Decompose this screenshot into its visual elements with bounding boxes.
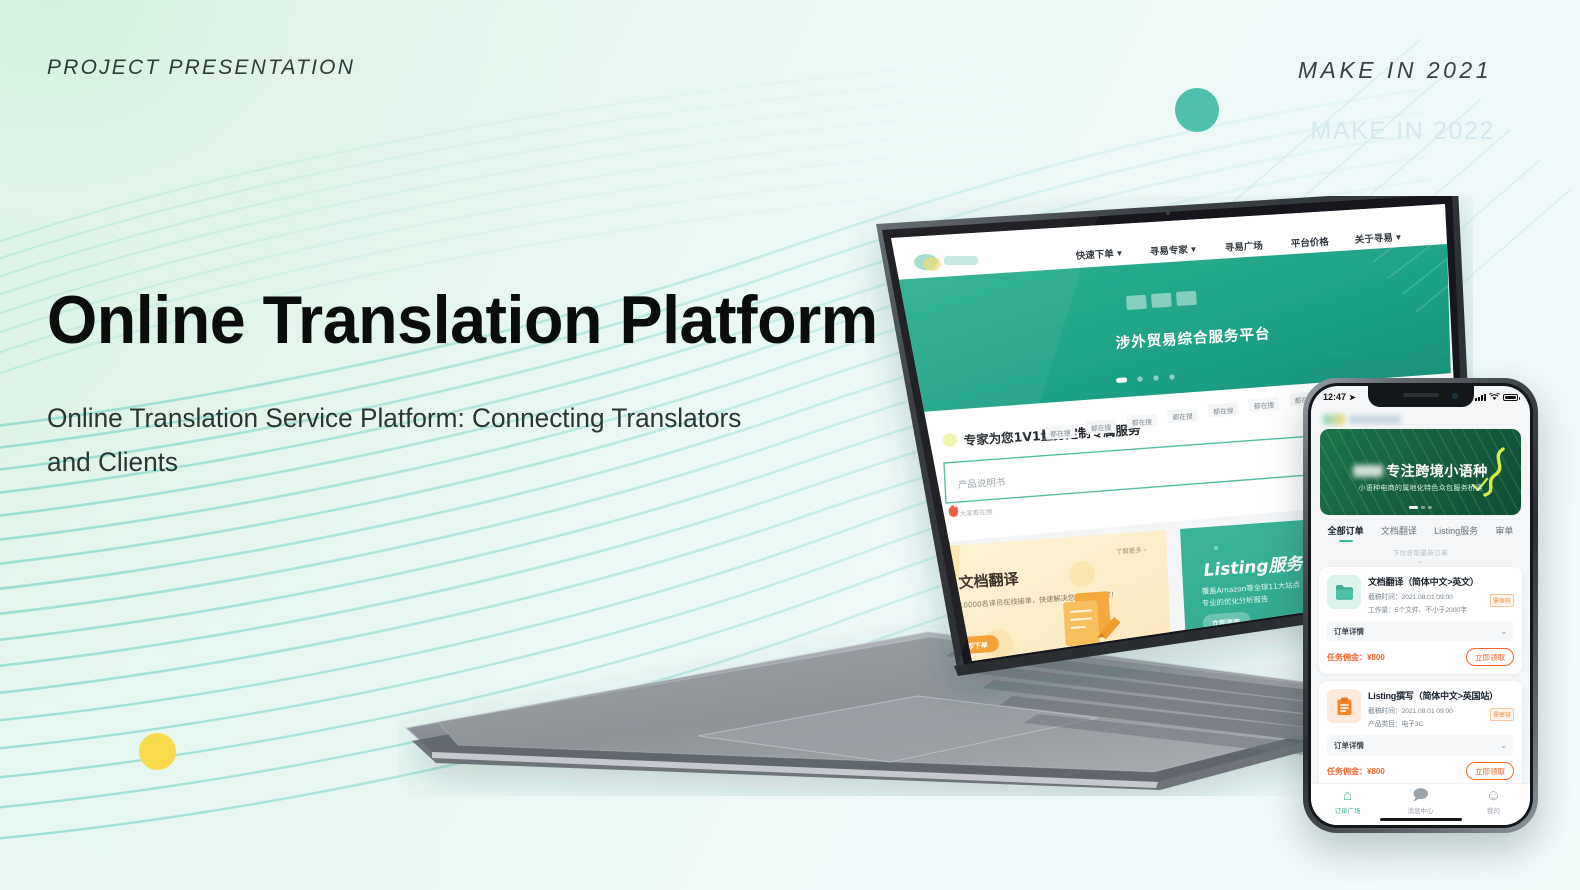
status-badge: 需审核 bbox=[1490, 708, 1514, 721]
tab-all-orders[interactable]: 全部订单 bbox=[1328, 524, 1364, 542]
tabbar-item-order-square[interactable]: ⌂ 订单广场 bbox=[1311, 788, 1384, 815]
claim-order-button[interactable]: 立即领取 bbox=[1466, 648, 1514, 666]
wifi-icon bbox=[1489, 393, 1500, 401]
home-indicator[interactable] bbox=[1380, 818, 1462, 821]
order-detail-label: 订单详情 bbox=[1334, 740, 1364, 751]
banner-dots[interactable] bbox=[1320, 506, 1521, 509]
eyebrow-label: PROJECT PRESENTATION bbox=[47, 56, 355, 80]
phone-status-bar: 12:47 ➤ bbox=[1311, 386, 1530, 408]
nav-item-3: 平台价格 bbox=[1290, 236, 1329, 250]
battery-icon bbox=[1503, 394, 1518, 401]
order-detail-label: 订单详情 bbox=[1334, 626, 1364, 637]
order-fee: 任务佣金：¥800 bbox=[1327, 652, 1385, 663]
tabbar-item-messages[interactable]: 🗩 消息中心 bbox=[1384, 788, 1457, 815]
smile-face-icon: ☺ bbox=[1457, 788, 1530, 804]
clipboard-icon bbox=[1327, 689, 1361, 723]
order-card[interactable]: Listing撰写（简体中文>英国站） 截稿时间：2021.08.01 09:0… bbox=[1319, 681, 1522, 788]
order-filter-tabs[interactable]: 全部订单 文档翻译 Listing服务 审单 bbox=[1311, 515, 1530, 544]
home-icon: ⌂ bbox=[1311, 788, 1384, 804]
signal-icon bbox=[1475, 394, 1486, 401]
tab-review-order[interactable]: 审单 bbox=[1495, 524, 1513, 542]
svg-text:都在搜: 都在搜 bbox=[1050, 428, 1071, 438]
order-detail-toggle[interactable]: 订单详情 ⌄ bbox=[1327, 621, 1514, 642]
status-time: 12:47 bbox=[1323, 392, 1346, 402]
svg-text:都在搜: 都在搜 bbox=[1213, 406, 1234, 416]
tab-document-translation[interactable]: 文档翻译 bbox=[1381, 524, 1417, 542]
app-logo-mark bbox=[1323, 414, 1345, 425]
tabbar-label: 订单广场 bbox=[1335, 808, 1361, 815]
tabbar-label: 我的 bbox=[1487, 808, 1500, 815]
nav-item-2: 寻易广场 bbox=[1224, 240, 1263, 254]
make-in-2022-label: MAKE IN 2022 bbox=[1310, 117, 1495, 146]
svg-text:都在搜: 都在搜 bbox=[1091, 423, 1112, 433]
location-arrow-icon: ➤ bbox=[1349, 393, 1356, 402]
claim-order-button[interactable]: 立即领取 bbox=[1466, 762, 1514, 780]
order-title: Listing撰写（简体中文>英国站） bbox=[1368, 689, 1514, 702]
status-badge: 需审核 bbox=[1490, 594, 1514, 607]
banner-title: 专注跨境小语种 bbox=[1320, 461, 1521, 481]
phone-mockup: 12:47 ➤ bbox=[1303, 378, 1538, 833]
chevron-down-icon: ⌄ bbox=[1500, 741, 1507, 750]
svg-text:都在搜: 都在搜 bbox=[1254, 400, 1275, 410]
chevron-down-icon: ⌄ bbox=[1500, 627, 1507, 636]
svg-text:都在搜: 都在搜 bbox=[1172, 412, 1193, 422]
svg-text:都在搜: 都在搜 bbox=[1131, 417, 1152, 427]
tab-listing-service[interactable]: Listing服务 bbox=[1434, 524, 1478, 542]
app-banner[interactable]: 专注跨境小语种 小语种电商的属地化特色众包服务桥梁 bbox=[1320, 429, 1521, 515]
order-detail-toggle[interactable]: 订单详情 ⌄ bbox=[1327, 735, 1514, 756]
app-logo-text bbox=[1349, 415, 1401, 424]
yellow-circle-decoration bbox=[139, 733, 176, 770]
presentation-slide: PROJECT PRESENTATION MAKE IN 2021 MAKE I… bbox=[0, 0, 1580, 890]
tabbar-label: 消息中心 bbox=[1408, 808, 1434, 815]
message-icon: 🗩 bbox=[1384, 788, 1457, 804]
order-card[interactable]: 文档翻译（简体中文>英文） 截稿时间：2021.08.01 09:00 工作量：… bbox=[1319, 567, 1522, 674]
chevron-down-icon: ⌄ bbox=[1311, 557, 1530, 564]
banner-subtitle: 小语种电商的属地化特色众包服务桥梁 bbox=[1320, 483, 1521, 493]
tabbar-item-profile[interactable]: ☺ 我的 bbox=[1457, 788, 1530, 815]
order-title: 文档翻译（简体中文>英文） bbox=[1368, 575, 1514, 588]
make-in-2021-label: MAKE IN 2021 bbox=[1298, 57, 1492, 84]
app-logo bbox=[1311, 408, 1530, 429]
order-fee: 任务佣金：¥800 bbox=[1327, 766, 1385, 777]
teal-circle-decoration bbox=[1175, 88, 1219, 132]
folder-icon bbox=[1327, 575, 1361, 609]
